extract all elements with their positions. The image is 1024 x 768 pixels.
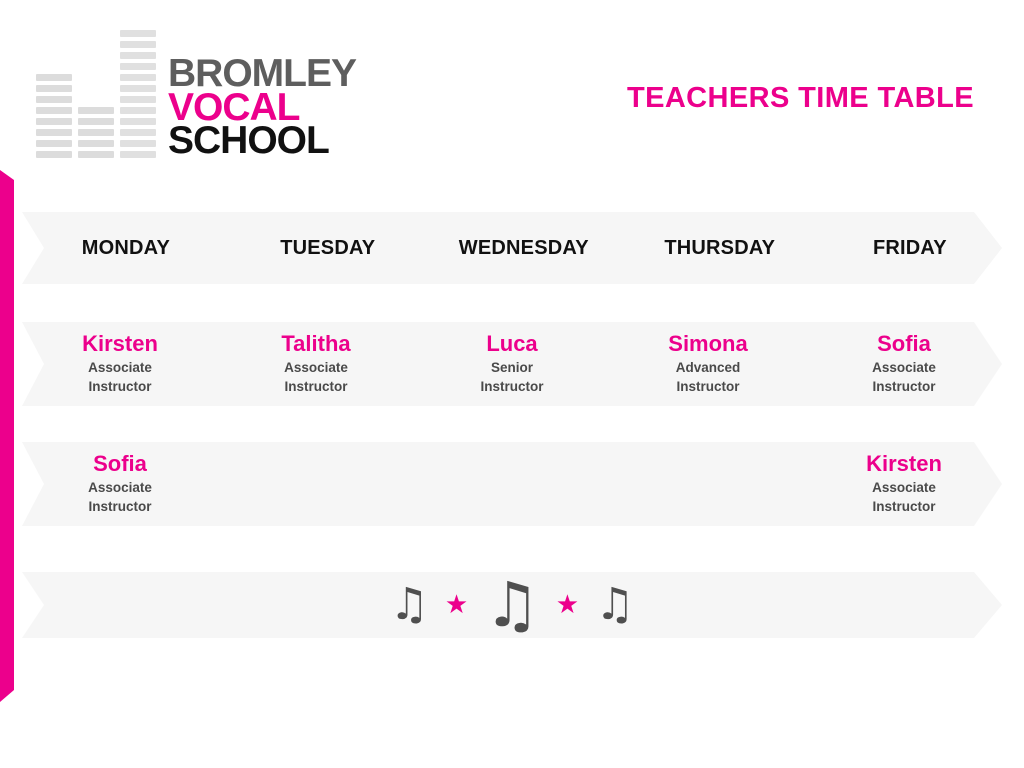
- day-header-monday: MONDAY: [22, 212, 230, 284]
- music-note-icon-right: ♫: [595, 583, 634, 627]
- slot-thursday-2[interactable]: [610, 442, 806, 526]
- equalizer-column-middle: [78, 107, 114, 158]
- teacher-role-line1: Associate: [872, 479, 936, 497]
- music-notes-decoration: ♫ ★ ♫ ★ ♫: [22, 572, 1002, 638]
- teacher-role-line2: Instructor: [872, 378, 935, 396]
- day-header-thursday: THURSDAY: [622, 212, 818, 284]
- teacher-role-line2: Instructor: [88, 498, 151, 516]
- teacher-name: Kirsten: [866, 452, 942, 476]
- timetable-row: Sofia Associate Instructor Kirsten Assoc…: [22, 442, 1002, 526]
- teacher-role-line1: Advanced: [676, 359, 741, 377]
- teacher-name: Talitha: [281, 332, 350, 356]
- left-accent-bar: [0, 170, 14, 702]
- page-title: TEACHERS TIME TABLE: [627, 82, 974, 115]
- music-note-icon-center: ♫: [484, 574, 540, 636]
- slot-wednesday-2[interactable]: [414, 442, 610, 526]
- teacher-name: Sofia: [877, 332, 931, 356]
- brand-logo: BROMLEY VOCAL SCHOOL: [36, 38, 356, 158]
- teacher-name: Simona: [668, 332, 747, 356]
- page-header: BROMLEY VOCAL SCHOOL TEACHERS TIME TABLE: [0, 0, 1024, 190]
- brand-wordmark: BROMLEY VOCAL SCHOOL: [168, 57, 356, 158]
- day-header-tuesday: TUESDAY: [230, 212, 426, 284]
- slot-tuesday-1[interactable]: Talitha Associate Instructor: [218, 322, 414, 406]
- slot-friday-2[interactable]: Kirsten Associate Instructor: [806, 442, 1002, 526]
- equalizer-bars-icon: [36, 40, 156, 158]
- star-icon-right: ★: [556, 592, 579, 618]
- star-icon-left: ★: [445, 592, 468, 618]
- day-header-friday: FRIDAY: [818, 212, 1002, 284]
- equalizer-column-right: [120, 30, 156, 158]
- teacher-role-line1: Associate: [872, 359, 936, 377]
- teacher-role-line1: Associate: [88, 479, 152, 497]
- teacher-name: Kirsten: [82, 332, 158, 356]
- teacher-name: Luca: [486, 332, 537, 356]
- slot-thursday-1[interactable]: Simona Advanced Instructor: [610, 322, 806, 406]
- brand-line-school: SCHOOL: [168, 124, 356, 158]
- slot-monday-1[interactable]: Kirsten Associate Instructor: [22, 322, 218, 406]
- teacher-role-line2: Instructor: [284, 378, 347, 396]
- music-note-icon-left: ♫: [389, 583, 428, 627]
- teacher-role-line2: Instructor: [88, 378, 151, 396]
- teacher-role-line1: Senior: [491, 359, 533, 377]
- timetable-header-row: MONDAY TUESDAY WEDNESDAY THURSDAY FRIDAY: [22, 212, 1002, 284]
- teacher-role-line2: Instructor: [480, 378, 543, 396]
- teacher-role-line2: Instructor: [676, 378, 739, 396]
- timetable-decoration-row: ♫ ★ ♫ ★ ♫: [22, 572, 1002, 638]
- timetable-row: Kirsten Associate Instructor Talitha Ass…: [22, 322, 1002, 406]
- day-header-wednesday: WEDNESDAY: [426, 212, 622, 284]
- teacher-role-line2: Instructor: [872, 498, 935, 516]
- slot-monday-2[interactable]: Sofia Associate Instructor: [22, 442, 218, 526]
- teacher-name: Sofia: [93, 452, 147, 476]
- teacher-role-line1: Associate: [284, 359, 348, 377]
- equalizer-column-left: [36, 74, 72, 158]
- slot-wednesday-1[interactable]: Luca Senior Instructor: [414, 322, 610, 406]
- slot-tuesday-2[interactable]: [218, 442, 414, 526]
- slot-friday-1[interactable]: Sofia Associate Instructor: [806, 322, 1002, 406]
- teacher-role-line1: Associate: [88, 359, 152, 377]
